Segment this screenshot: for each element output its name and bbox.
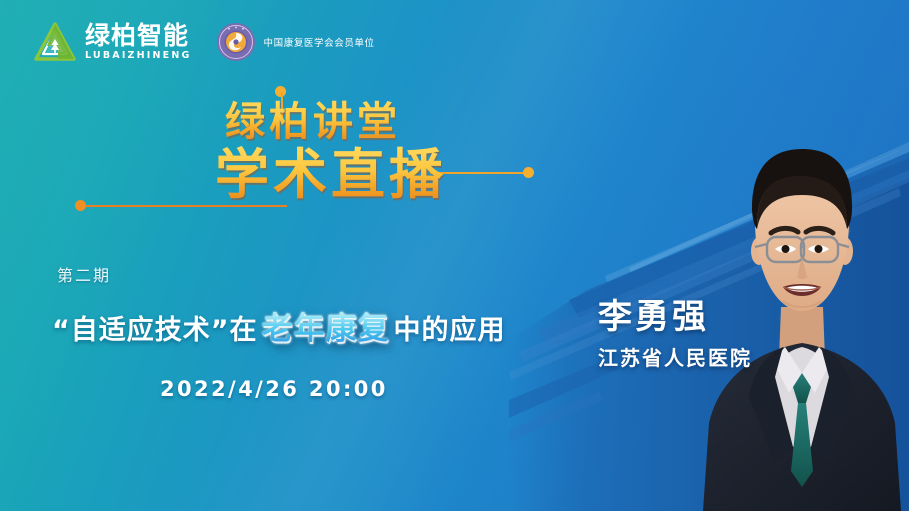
membership-badge[interactable]: 中国康复医学会会员单位 — [216, 22, 375, 62]
program-title-line2: 学术直播 — [215, 146, 545, 204]
speaker-organization: 江苏省人民医院 — [598, 348, 752, 368]
decor-dot-top — [275, 86, 286, 97]
program-title-line1: 绿柏讲堂 — [225, 100, 545, 144]
lubaizhineng-mountain-icon — [34, 22, 76, 62]
live-stream-poster: 绿柏智能 LUBAIZHINENG 中国康复医学会会员单位 — [0, 0, 909, 511]
brand-logo[interactable]: 绿柏智能 LUBAIZHINENG — [34, 22, 192, 62]
topic-prefix: “自适应技术”在 — [52, 308, 258, 347]
speaker-name: 李勇强 — [598, 300, 752, 334]
topic-line: “自适应技术”在 老年康复 中的应用 — [52, 303, 506, 348]
topic-suffix: 中的应用 — [394, 308, 506, 347]
episode-label: 第二期 — [57, 262, 111, 286]
brand-name-en: LUBAIZHINENG — [85, 51, 192, 61]
brand-name-cn: 绿柏智能 — [85, 23, 192, 48]
decor-dot-left — [75, 200, 86, 211]
speaker-info: 李勇强 江苏省人民医院 — [598, 300, 752, 368]
header-logos: 绿柏智能 LUBAIZHINENG 中国康复医学会会员单位 — [34, 22, 375, 62]
topic-highlight: 老年康复 — [258, 303, 394, 348]
association-seal-icon — [216, 22, 256, 62]
session-datetime: 2022/4/26 20:00 — [160, 377, 388, 401]
membership-label: 中国康复医学会会员单位 — [264, 35, 375, 49]
program-title: 绿柏讲堂 学术直播 — [215, 100, 545, 204]
